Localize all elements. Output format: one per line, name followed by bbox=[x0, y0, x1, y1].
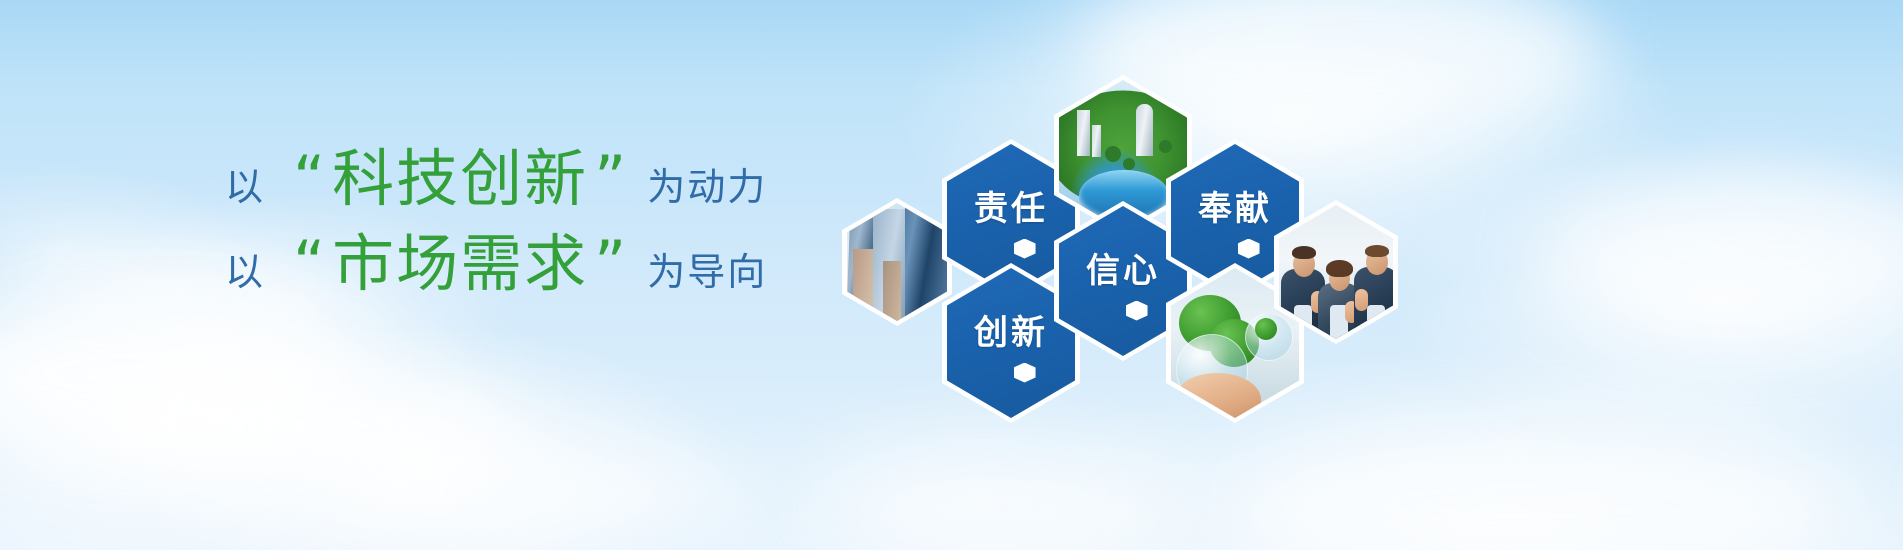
headline-1-suffix: 为动力 bbox=[647, 156, 767, 211]
hero-banner: 以 “ 科技创新 ” 为动力 以 “ 市场需求 ” 为导向 bbox=[0, 0, 1903, 550]
hex-photo-inner bbox=[847, 203, 947, 321]
cloud-shape bbox=[140, 360, 520, 490]
business-team-thumbs-up-icon bbox=[1279, 205, 1393, 339]
cloud-shape bbox=[330, 430, 750, 550]
hexagon-cluster: 责任 创新 bbox=[830, 55, 1903, 455]
headline-1-emphasis: 科技创新 bbox=[332, 148, 588, 210]
headline-line-2: 以 “ 市场需求 ” 为导向 bbox=[225, 233, 767, 296]
headline-2-emphasis: 市场需求 bbox=[332, 233, 588, 295]
hex-dot-marker bbox=[1238, 239, 1260, 259]
hex-dot-marker bbox=[1126, 301, 1148, 321]
hex-dot-marker bbox=[1014, 239, 1036, 259]
headline-2-quote-close: ” bbox=[594, 233, 627, 295]
hex-label-innovation: 创新 bbox=[974, 305, 1048, 354]
cloud-shape bbox=[0, 300, 360, 450]
headline-1-quote-close: ” bbox=[594, 148, 627, 210]
headline-2-suffix: 为导向 bbox=[647, 241, 767, 296]
hex-photo-city-buildings[interactable] bbox=[842, 198, 952, 326]
cloud-shape bbox=[820, 450, 1180, 550]
headline-1-quote-open: “ bbox=[293, 148, 326, 210]
city-skyscrapers-icon bbox=[847, 203, 947, 321]
headline-2-prefix: 以 bbox=[225, 241, 265, 296]
hex-label-dedication: 奉献 bbox=[1198, 181, 1272, 230]
hex-photo-inner bbox=[1279, 205, 1393, 339]
headline-2-quote-open: “ bbox=[293, 233, 326, 295]
hex-label-confidence: 信心 bbox=[1086, 243, 1160, 292]
headline-line-1: 以 “ 科技创新 ” 为动力 bbox=[225, 148, 767, 211]
headline-1-prefix: 以 bbox=[225, 156, 265, 211]
headline-block: 以 “ 科技创新 ” 为动力 以 “ 市场需求 ” 为导向 bbox=[225, 148, 767, 296]
hex-dot-marker bbox=[1014, 363, 1036, 383]
hex-label-responsibility: 责任 bbox=[974, 181, 1048, 230]
